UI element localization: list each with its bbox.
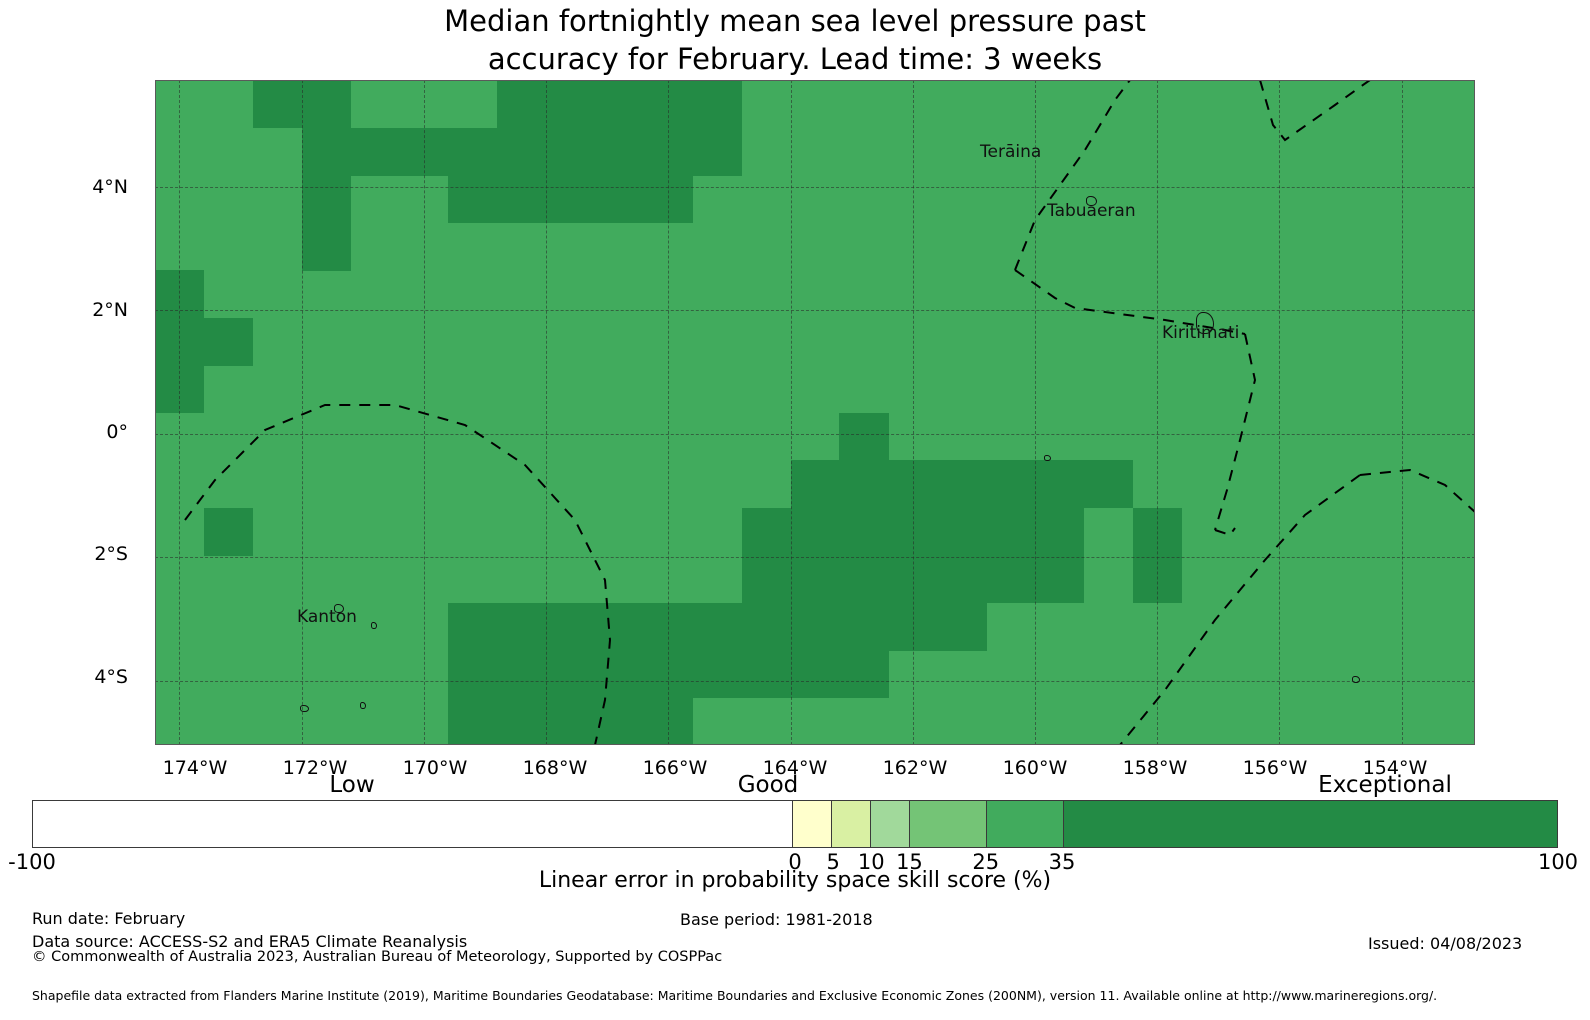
heatmap-cell	[1035, 460, 1084, 508]
colorbar	[32, 800, 1558, 848]
gridline-horizontal	[155, 434, 1475, 435]
gridline-vertical	[1157, 80, 1158, 745]
colorbar-category-good: Good	[618, 772, 918, 798]
gridline-vertical	[179, 80, 180, 745]
heatmap-cell	[595, 650, 644, 698]
latitude-tick-label: 4°N	[92, 176, 128, 198]
longitude-tick-label: 160°W	[975, 757, 1095, 779]
colorbar-segment	[832, 801, 871, 847]
gridline-vertical	[913, 80, 914, 745]
gridline-vertical	[424, 80, 425, 745]
heatmap-cell	[1035, 555, 1084, 603]
gridline-vertical	[668, 80, 669, 745]
heatmap-cell	[839, 555, 888, 603]
heatmap-cell	[742, 603, 791, 651]
heatmap-cell	[839, 460, 888, 508]
heatmap-cell	[791, 603, 840, 651]
title-line-2: accuracy for February. Lead time: 3 week…	[0, 40, 1590, 78]
footer-shapefile-attribution: Shapefile data extracted from Flanders M…	[32, 988, 1437, 1003]
colorbar-title: Linear error in probability space skill …	[0, 868, 1590, 893]
colorbar-segment	[871, 801, 910, 847]
heatmap-cell	[595, 128, 644, 176]
heatmap-cell	[302, 128, 351, 176]
heatmap-cell	[595, 603, 644, 651]
page-title: Median fortnightly mean sea level pressu…	[0, 2, 1590, 78]
heatmap-cell	[448, 128, 497, 176]
gridline-horizontal	[155, 681, 1475, 682]
title-line-1: Median fortnightly mean sea level pressu…	[0, 2, 1590, 40]
heatmap-cell	[595, 80, 644, 128]
footer-issued: Issued: 04/08/2023	[1368, 934, 1522, 953]
heatmap-cell	[986, 555, 1035, 603]
gridline-vertical	[791, 80, 792, 745]
heatmap-cell	[546, 698, 595, 746]
heatmap-cell	[937, 603, 986, 651]
island-outline-icon	[1196, 312, 1214, 334]
colorbar-segment	[910, 801, 987, 847]
heatmap-cell	[253, 80, 302, 128]
heatmap-cell	[497, 698, 546, 746]
heatmap-cell	[448, 650, 497, 698]
heatmap-cell	[791, 650, 840, 698]
latitude-tick-label: 0°	[106, 421, 128, 443]
heatmap-cell	[204, 318, 253, 366]
heatmap-cell	[204, 508, 253, 556]
heatmap-cell	[693, 603, 742, 651]
gridline-vertical	[546, 80, 547, 745]
heatmap-cell	[693, 80, 742, 128]
heatmap-cell	[693, 128, 742, 176]
heatmap-cell	[546, 128, 595, 176]
heatmap-cell	[937, 555, 986, 603]
heatmap-cell	[302, 223, 351, 271]
heatmap-cell	[302, 175, 351, 223]
heatmap-cell	[448, 698, 497, 746]
heatmap-cell	[791, 555, 840, 603]
footer-run-date: Run date: February	[32, 909, 185, 928]
heatmap-cell	[497, 603, 546, 651]
heatmap-cell	[937, 508, 986, 556]
island-label: Terāina	[980, 142, 1041, 162]
latitude-tick-label: 2°S	[94, 543, 128, 565]
heatmap-cell	[497, 80, 546, 128]
gridline-vertical	[1402, 80, 1403, 745]
heatmap-cell	[839, 508, 888, 556]
heatmap-cell	[546, 650, 595, 698]
heatmap-cell	[302, 80, 351, 128]
island-outline-icon	[1352, 676, 1360, 683]
gridline-vertical	[1279, 80, 1280, 745]
footer-copyright: © Commonwealth of Australia 2023, Austra…	[32, 949, 722, 965]
island-outline-icon	[360, 702, 366, 709]
island-label: Kanton	[297, 607, 357, 627]
heatmap-cell	[448, 603, 497, 651]
heatmap-cell	[546, 175, 595, 223]
longitude-tick-label: 158°W	[1095, 757, 1215, 779]
island-outline-icon	[334, 604, 344, 613]
heatmap-cell	[839, 650, 888, 698]
heatmap-cell	[351, 128, 400, 176]
gridline-horizontal	[155, 187, 1475, 188]
heatmap-cell	[742, 555, 791, 603]
gridline-vertical	[1035, 80, 1036, 745]
gridline-horizontal	[155, 557, 1475, 558]
heatmap-cell	[693, 650, 742, 698]
colorbar-segment	[987, 801, 1064, 847]
heatmap-cell	[986, 508, 1035, 556]
heatmap-cell	[791, 460, 840, 508]
colorbar-category-exceptional: Exceptional	[1235, 772, 1535, 798]
longitude-tick-label: 168°W	[495, 757, 615, 779]
heatmap-cell	[497, 650, 546, 698]
footer-base-period: Base period: 1981-2018	[680, 910, 873, 929]
latitude-tick-label: 4°S	[94, 666, 128, 688]
heatmap-cell	[1035, 508, 1084, 556]
heatmap-cell	[546, 603, 595, 651]
colorbar-category-low: Low	[202, 772, 502, 798]
heatmap-cell	[937, 460, 986, 508]
latitude-tick-label: 2°N	[92, 299, 128, 321]
heatmap-cell	[497, 128, 546, 176]
heatmap-cell	[986, 460, 1035, 508]
gridline-vertical	[302, 80, 303, 745]
heatmap-cell	[839, 603, 888, 651]
heatmap-cell	[742, 508, 791, 556]
gridline-horizontal	[155, 310, 1475, 311]
island-outline-icon	[1086, 196, 1097, 206]
heatmap-cell	[791, 508, 840, 556]
island-outline-icon	[371, 622, 377, 629]
colorbar-segment	[33, 801, 793, 847]
heatmap-cell	[448, 175, 497, 223]
heatmap-cell	[595, 698, 644, 746]
heatmap-cell	[1084, 460, 1133, 508]
island-outline-icon	[300, 705, 309, 712]
colorbar-segment	[793, 801, 832, 847]
heatmap-cell	[839, 413, 888, 461]
heatmap-cell	[595, 175, 644, 223]
heatmap-cell	[497, 175, 546, 223]
heatmap-cell	[546, 80, 595, 128]
island-outline-icon	[1044, 455, 1051, 461]
map-plot-area	[155, 80, 1475, 745]
colorbar-segment	[1064, 801, 1557, 847]
heatmap-cell	[742, 650, 791, 698]
